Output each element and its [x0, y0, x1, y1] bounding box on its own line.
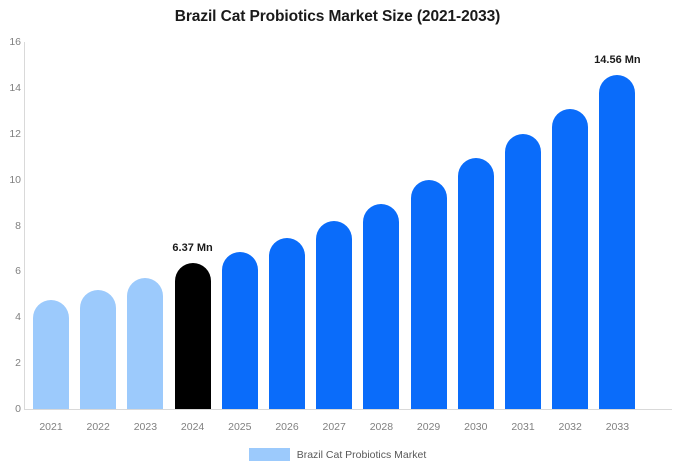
bar-2028[interactable] — [363, 204, 399, 409]
bar-2031[interactable] — [505, 134, 541, 409]
y-axis-tick-labels: 0246810121416 — [0, 0, 21, 469]
bar-2024[interactable] — [175, 263, 211, 409]
legend-label-brazil-cat-probiotics-market: Brazil Cat Probiotics Market — [297, 449, 427, 461]
y-axis-tick-12: 12 — [1, 128, 21, 140]
x-axis-tick-2021: 2021 — [28, 421, 74, 433]
bar-2025[interactable] — [222, 252, 258, 409]
chart-legend: Brazil Cat Probiotics Market — [0, 448, 675, 461]
legend-swatch-brazil-cat-probiotics-market — [249, 448, 290, 461]
x-axis-tick-2023: 2023 — [122, 421, 168, 433]
y-axis-line — [24, 42, 25, 410]
y-axis-tick-10: 10 — [1, 174, 21, 186]
bar-2021[interactable] — [33, 300, 69, 409]
chart-container: Brazil Cat Probiotics Market Size (2021-… — [0, 0, 675, 469]
bar-2033[interactable] — [599, 75, 635, 409]
bar-2022[interactable] — [80, 290, 116, 409]
bar-2032[interactable] — [552, 109, 588, 409]
y-axis-tick-4: 4 — [1, 311, 21, 323]
x-axis-tick-2032: 2032 — [547, 421, 593, 433]
x-axis-tick-2031: 2031 — [500, 421, 546, 433]
y-axis-tick-14: 14 — [1, 82, 21, 94]
x-axis-tick-2030: 2030 — [453, 421, 499, 433]
x-axis-tick-2028: 2028 — [358, 421, 404, 433]
bar-value-label-2033: 14.56 Mn — [572, 54, 662, 66]
x-axis-tick-2033: 2033 — [594, 421, 640, 433]
x-axis-tick-2026: 2026 — [264, 421, 310, 433]
y-axis-tick-2: 2 — [1, 357, 21, 369]
bar-2030[interactable] — [458, 158, 494, 409]
x-axis-tick-2027: 2027 — [311, 421, 357, 433]
x-axis-tick-2022: 2022 — [75, 421, 121, 433]
y-axis-tick-6: 6 — [1, 265, 21, 277]
chart-title: Brazil Cat Probiotics Market Size (2021-… — [0, 8, 675, 26]
bar-2026[interactable] — [269, 238, 305, 409]
bar-2029[interactable] — [411, 180, 447, 409]
x-axis-line — [24, 409, 672, 410]
y-axis-tick-8: 8 — [1, 220, 21, 232]
x-axis-tick-2029: 2029 — [406, 421, 452, 433]
bar-2027[interactable] — [316, 221, 352, 409]
x-axis-tick-2025: 2025 — [217, 421, 263, 433]
bar-2023[interactable] — [127, 278, 163, 409]
y-axis-tick-0: 0 — [1, 403, 21, 415]
x-axis-tick-2024: 2024 — [170, 421, 216, 433]
y-axis-tick-16: 16 — [1, 36, 21, 48]
bar-value-label-2024: 6.37 Mn — [148, 242, 238, 254]
